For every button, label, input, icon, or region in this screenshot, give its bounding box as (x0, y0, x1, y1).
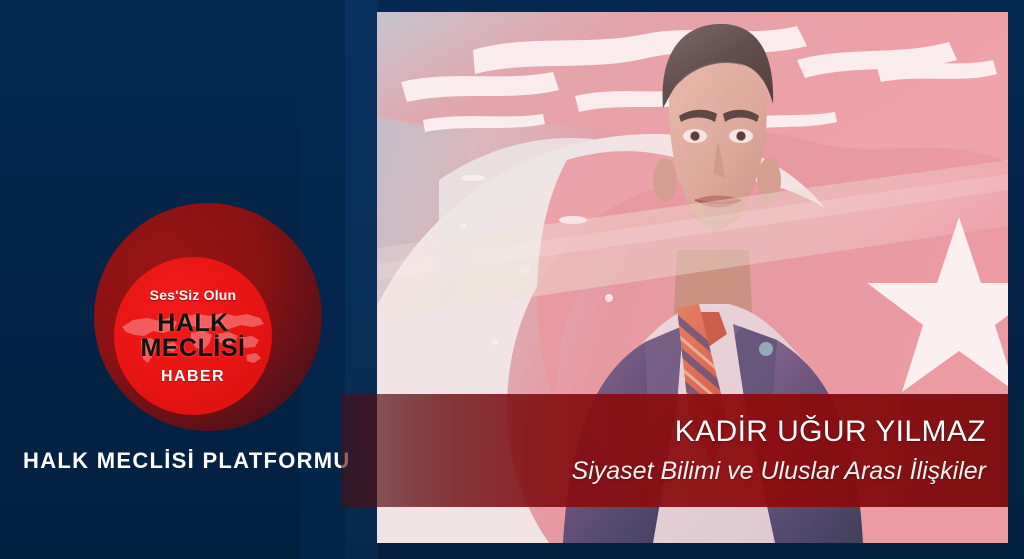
name-banner: KADİR UĞUR YILMAZ Siyaset Bilimi ve Ulus… (341, 394, 1008, 507)
logo-title-line1: HALK (141, 311, 246, 337)
person-name: KADİR UĞUR YILMAZ (675, 415, 986, 448)
logo-suffix: HABER (161, 369, 225, 385)
logo-inner-circle: Ses'Siz Olun HALK MECLİSİ HABER (114, 257, 272, 415)
logo-title-line2: MECLİSİ (141, 336, 246, 362)
logo-tagline: Ses'Siz Olun (150, 288, 237, 302)
logo-title: HALK MECLİSİ (141, 311, 246, 362)
platform-caption: HALK MECLİSİ PLATFORMU (23, 448, 351, 474)
banner-canvas: Ses'Siz Olun HALK MECLİSİ HABER HALK MEC… (0, 0, 1024, 559)
person-subtitle: Siyaset Bilimi ve Uluslar Arası İlişkile… (572, 457, 986, 486)
